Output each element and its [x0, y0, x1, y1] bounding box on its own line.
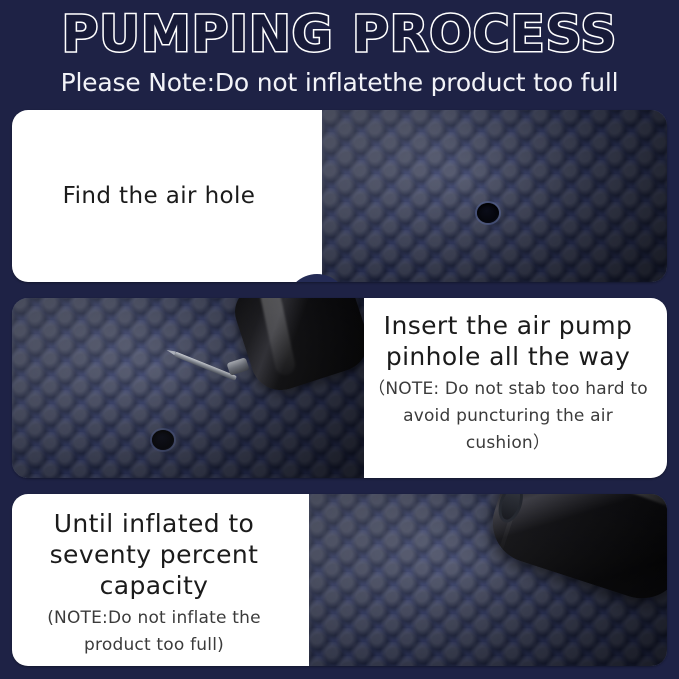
step-panel-1: Find the air hole 1: [12, 110, 667, 282]
step-panel-2: Insert the air pump pinhole all the way …: [12, 298, 667, 478]
pump-gloss-highlight: [529, 494, 667, 513]
pump-gloss-highlight: [259, 298, 297, 377]
step-3-instruction: Until inflated to seventy percent capaci…: [26, 508, 282, 601]
step-2-instruction: Insert the air pump pinhole all the way: [363, 310, 653, 372]
step-3-photo: [309, 494, 667, 666]
air-hole-icon: [477, 203, 499, 223]
step-2-note: （NOTE: Do not stab too hard to avoid pun…: [363, 376, 653, 457]
pump-nozzle-ring-icon: [494, 494, 527, 526]
step-panel-3: Until inflated to seventy percent capaci…: [12, 494, 667, 666]
step-2-photo: [12, 298, 364, 478]
cushion-texture-icon: [322, 110, 667, 282]
step-1-text-block: Find the air hole: [30, 110, 288, 282]
step-1-instruction: Find the air hole: [63, 181, 256, 211]
header-banner: PUMPING PROCESS Please Note:Do not infla…: [0, 0, 679, 104]
page-title: PUMPING PROCESS: [0, 4, 679, 64]
step-3-text-block: Until inflated to seventy percent capaci…: [26, 500, 282, 660]
step-2-text-block: Insert the air pump pinhole all the way …: [363, 304, 653, 472]
page-subtitle: Please Note:Do not inflatethe product to…: [0, 68, 679, 97]
air-hole-icon: [152, 430, 174, 450]
step-3-note: (NOTE:Do not inflate the product too ful…: [26, 605, 282, 659]
step-1-photo: [322, 110, 667, 282]
